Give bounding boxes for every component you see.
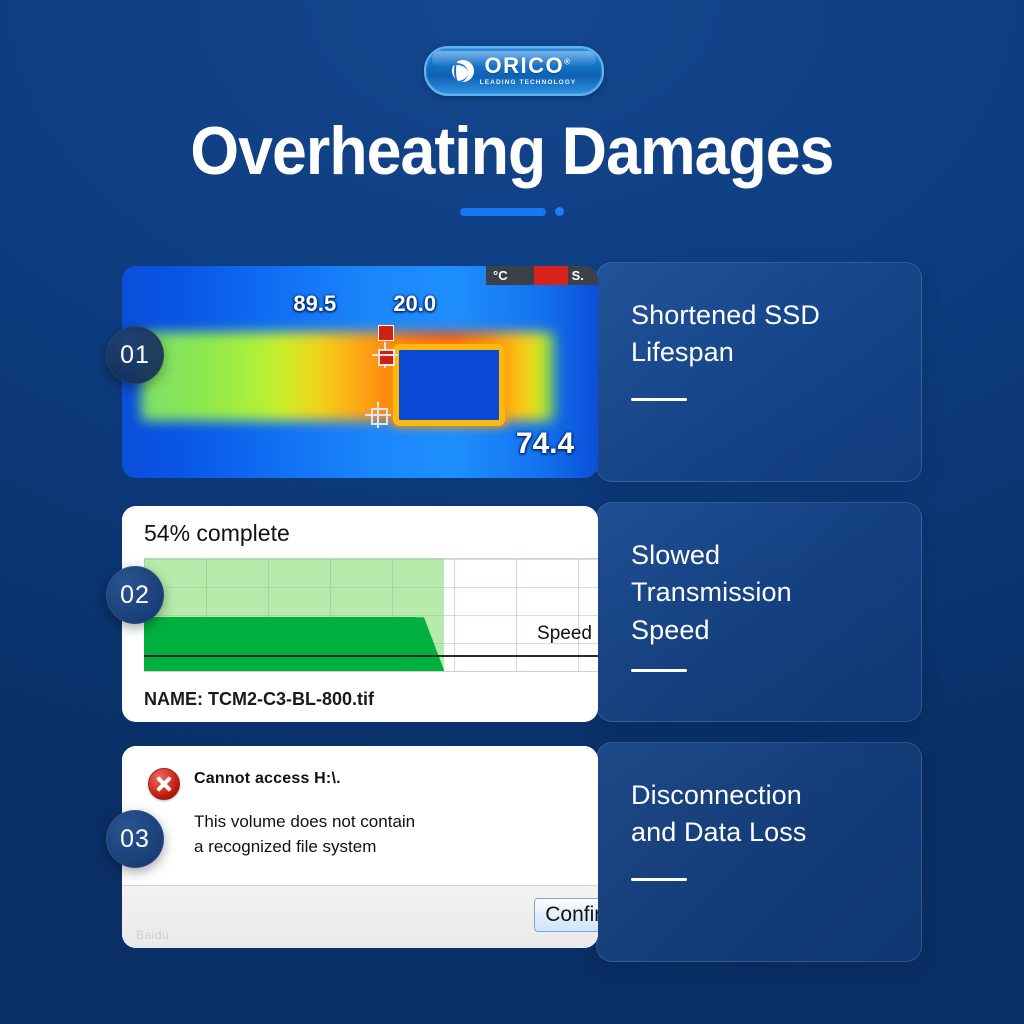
- error-x-icon: [148, 768, 180, 800]
- title-divider: [460, 207, 564, 216]
- thermal-cold-marker-box: [371, 408, 388, 425]
- damage-row-3: Disconnection and Data Loss Cannot acces…: [0, 742, 1024, 962]
- damage-row-1: Shortened SSD Lifespan °C S. 89.5 20.0 7…: [0, 262, 1024, 482]
- watermark: Baidu: [136, 928, 169, 942]
- logo-tagline: LEADING TECHNOLOGY: [480, 80, 577, 87]
- copy-dialog-card: 54% complete Speed NAME: TCM2-C3-BL-800.…: [122, 506, 598, 722]
- thermal-hot-marker-flag: [378, 325, 394, 341]
- step-badge-03: 03: [106, 810, 164, 868]
- damage-title-2: Slowed Transmission Speed: [631, 537, 921, 649]
- thermal-value-right: 20.0: [393, 291, 436, 317]
- thermal-hot-marker-box: [378, 349, 395, 366]
- thermal-image-card: °C S. 89.5 20.0 74.4: [122, 266, 598, 478]
- logo-pill: ORICO® LEADING TECHNOLOGY: [424, 46, 604, 96]
- logo-name: ORICO: [484, 53, 564, 78]
- damage-panel-1: Shortened SSD Lifespan: [596, 262, 922, 482]
- copy-file-name-label: NAME:: [144, 689, 203, 709]
- panel-underline: [631, 878, 687, 881]
- thermal-cold-crosshair-icon: [365, 402, 391, 428]
- thermal-value-left: 89.5: [293, 291, 336, 317]
- thermal-scale-red-block: [534, 266, 568, 285]
- error-message: This volume does not contain a recognize…: [194, 810, 598, 859]
- page-title: Overheating Damages: [41, 112, 983, 190]
- copy-progress-text: 54% complete: [122, 506, 598, 555]
- divider-dot: [555, 207, 564, 216]
- thermal-value-main: 74.4: [516, 427, 574, 461]
- damage-title-1: Shortened SSD Lifespan: [631, 297, 921, 372]
- speed-graph-label: Speed: [537, 623, 592, 645]
- error-dialog-card: Cannot access H:\. This volume does not …: [122, 746, 598, 948]
- step-badge-02: 02: [106, 566, 164, 624]
- file-copy-dialog: 54% complete Speed NAME: TCM2-C3-BL-800.…: [122, 506, 598, 722]
- step-badge-01: 01: [106, 326, 164, 384]
- infographic-page: ORICO® LEADING TECHNOLOGY Overheating Da…: [0, 0, 1024, 1024]
- panel-underline: [631, 398, 687, 401]
- damage-title-3: Disconnection and Data Loss: [631, 777, 921, 852]
- logo-text: ORICO® LEADING TECHNOLOGY: [480, 55, 577, 87]
- speed-graph-series-area: [144, 617, 416, 671]
- windows-error-dialog: Cannot access H:\. This volume does not …: [122, 746, 598, 948]
- thermal-scale-bar: °C S.: [486, 266, 598, 285]
- thermal-unit-label: °C: [486, 268, 508, 283]
- damage-row-2: Slowed Transmission Speed 54% complete S…: [0, 502, 1024, 722]
- divider-bar: [460, 208, 546, 216]
- error-dialog-body: Cannot access H:\. This volume does not …: [122, 746, 598, 859]
- damage-panel-2: Slowed Transmission Speed: [596, 502, 922, 722]
- brand-logo: ORICO® LEADING TECHNOLOGY: [424, 46, 600, 92]
- error-headline: Cannot access H:\.: [194, 770, 598, 788]
- thermal-chip-region: [393, 344, 505, 426]
- error-dialog-footer: Confirm: [122, 885, 598, 948]
- confirm-button[interactable]: Confirm: [534, 898, 598, 932]
- speed-graph: Speed: [144, 558, 598, 672]
- thermal-scale-suffix: S.: [568, 268, 584, 283]
- thermal-hot-crosshair-icon: [372, 342, 398, 368]
- copy-file-name-value: TCM2-C3-BL-800.tif: [208, 689, 374, 709]
- speed-graph-baseline: [144, 655, 598, 657]
- thermal-image: °C S. 89.5 20.0 74.4: [122, 266, 598, 478]
- damage-panel-3: Disconnection and Data Loss: [596, 742, 922, 962]
- globe-icon: [452, 60, 474, 82]
- logo-registered-mark: ®: [564, 58, 571, 67]
- copy-file-name: NAME: TCM2-C3-BL-800.tif: [144, 689, 374, 710]
- panel-underline: [631, 669, 687, 672]
